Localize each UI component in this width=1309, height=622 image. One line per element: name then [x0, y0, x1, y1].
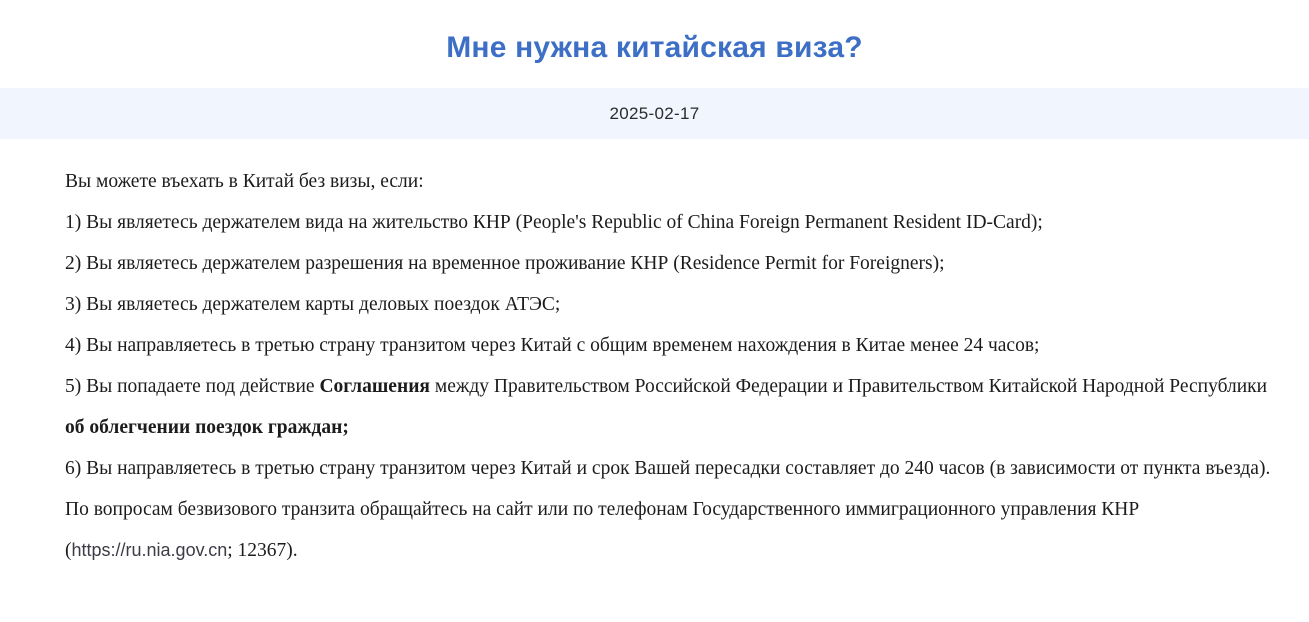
publish-date: 2025-02-17: [610, 104, 700, 124]
list-item-5-text-lead: Вы попадаете под действие: [86, 376, 319, 397]
publish-date-band: 2025-02-17: [0, 88, 1309, 139]
footer-text-tail: ; 12367).: [227, 540, 297, 561]
list-item-6-index: 6): [65, 458, 81, 479]
list-item-6: 6) Вы направляетесь в третью страну тран…: [65, 448, 1279, 489]
list-item-1: 1) Вы являетесь держателем вида на жител…: [65, 202, 1279, 243]
list-item-1-text: Вы являетесь держателем вида на жительст…: [86, 212, 1043, 233]
page-header: Мне нужна китайская виза?: [0, 0, 1309, 88]
list-item-5-text-middle: между Правительством Российской Федераци…: [430, 376, 1267, 397]
article-content: Вы можете въехать в Китай без визы, если…: [0, 139, 1309, 571]
nia-website-link[interactable]: https://ru.nia.gov.cn: [72, 540, 228, 560]
list-item-5-bold-travel-facilitation: об облегчении поездок граждан;: [65, 417, 349, 438]
list-item-2-text: Вы являетесь держателем разрешения на вр…: [86, 253, 944, 274]
list-item-4-index: 4): [65, 335, 81, 356]
list-item-3-index: 3): [65, 294, 81, 315]
intro-paragraph: Вы можете въехать в Китай без визы, если…: [65, 161, 1279, 202]
list-item-3: 3) Вы являетесь держателем карты деловых…: [65, 284, 1279, 325]
page-title: Мне нужна китайская виза?: [446, 25, 863, 64]
list-item-5-bold-agreement: Соглашения: [319, 376, 430, 397]
list-item-4-text: Вы направляетесь в третью страну транзит…: [86, 335, 1039, 356]
list-item-2: 2) Вы являетесь держателем разрешения на…: [65, 243, 1279, 284]
list-item-1-index: 1): [65, 212, 81, 233]
page-root: Мне нужна китайская виза? 2025-02-17 Вы …: [0, 0, 1309, 622]
footer-paragraph: По вопросам безвизового транзита обращай…: [65, 489, 1279, 571]
list-item-2-index: 2): [65, 253, 81, 274]
list-item-5: 5) Вы попадаете под действие Соглашения …: [65, 366, 1279, 448]
list-item-5-index: 5): [65, 376, 81, 397]
list-item-4: 4) Вы направляетесь в третью страну тран…: [65, 325, 1279, 366]
list-item-6-text: Вы направляетесь в третью страну транзит…: [86, 458, 1270, 479]
list-item-3-text: Вы являетесь держателем карты деловых по…: [86, 294, 560, 315]
